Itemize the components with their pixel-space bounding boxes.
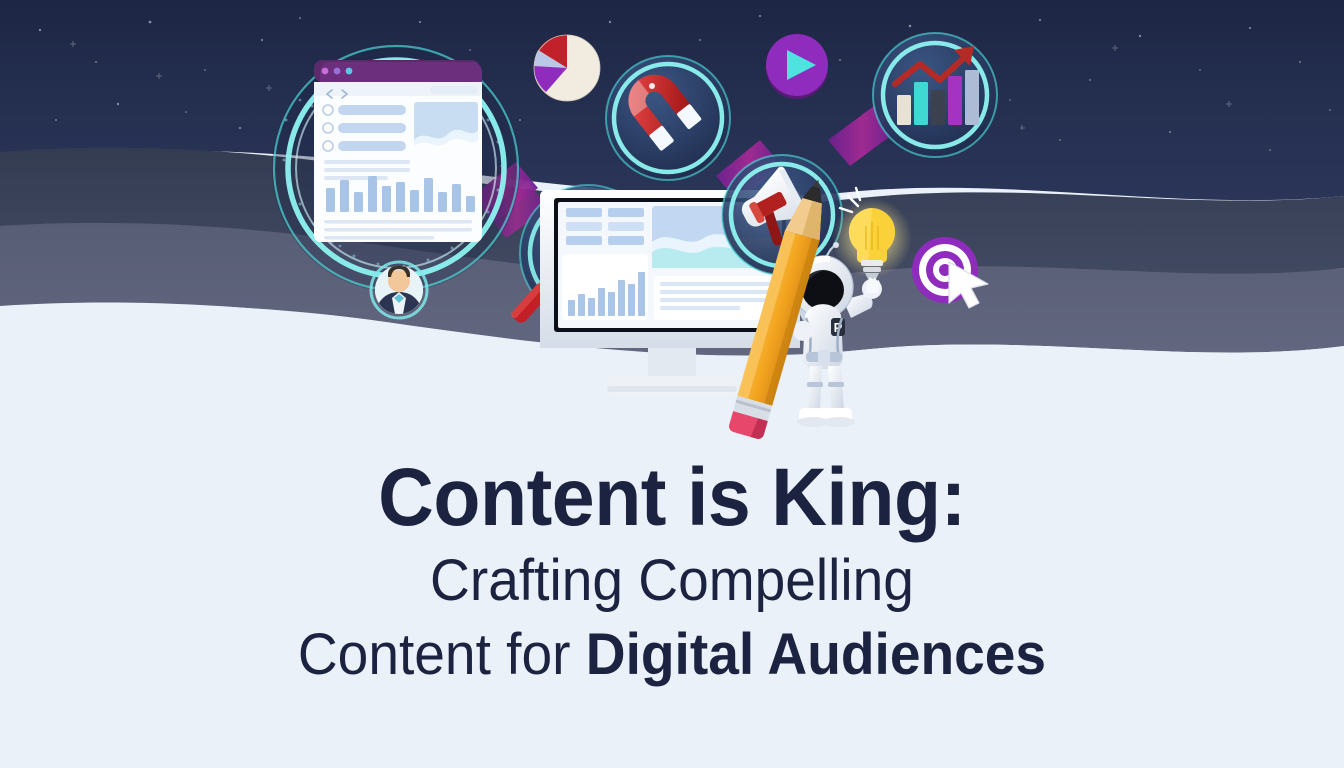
growth-bar-chart-icon (873, 33, 997, 157)
target-cursor-icon (912, 237, 988, 308)
headline-block: Content is King: Crafting Compelling Con… (0, 452, 1344, 692)
window-dot-2 (334, 68, 341, 75)
window-dot-1 (322, 68, 329, 75)
banner-root: P (0, 0, 1344, 768)
headline-line-3-light: Content for (298, 622, 586, 687)
hero-illustration: P (0, 0, 1344, 460)
monitor-stand-neck (648, 348, 696, 376)
user-avatar-icon (371, 262, 427, 318)
headline-line-3-strong: Digital Audiences (586, 622, 1046, 687)
play-button-icon (766, 34, 828, 99)
headline-line-3: Content for Digital Audiences (34, 618, 1311, 692)
dashboard-window-icon (272, 44, 520, 292)
window-dot-3 (346, 68, 353, 75)
dashboard-area-chart (414, 102, 478, 156)
headline-line-1: Content is King: (40, 452, 1303, 544)
magnet-icon (606, 56, 730, 180)
pie-chart-icon (534, 35, 600, 101)
dashboard-card (314, 60, 482, 242)
headline-line-2: Crafting Compelling (34, 544, 1311, 618)
